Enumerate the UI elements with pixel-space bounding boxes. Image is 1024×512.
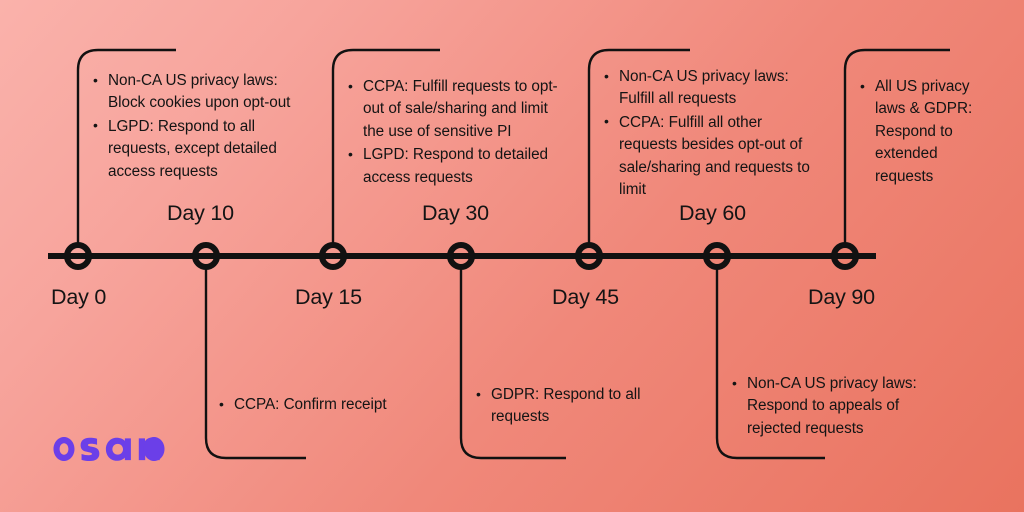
osano-logo-wordmark [54, 437, 165, 461]
callout-item: Non-CA US privacy laws: Fulfill all requ… [602, 66, 814, 111]
callout-day-60-list: Non-CA US privacy laws: Respond to appea… [730, 373, 946, 440]
day-label-day-30: Day 30 [422, 203, 489, 225]
day-label-day-90: Day 90 [808, 287, 875, 309]
callout-day-10-list: CCPA: Confirm receipt [217, 394, 437, 416]
callout-day-10: CCPA: Confirm receipt [217, 394, 437, 417]
timeline-node-day-60[interactable] [706, 245, 728, 267]
callout-day-30: GDPR: Respond to all requests [474, 384, 666, 430]
callout-day-90: All US privacy laws & GDPR: Respond to e… [858, 76, 994, 189]
timeline-node-day-90[interactable] [834, 245, 856, 267]
connector-day-10 [206, 264, 306, 458]
timeline-node-day-15[interactable] [322, 245, 344, 267]
callout-item: Non-CA US privacy laws: Block cookies up… [91, 70, 313, 115]
callout-day-0-list: Non-CA US privacy laws: Block cookies up… [91, 70, 313, 183]
callout-item: LGPD: Respond to detailed access request… [346, 144, 568, 189]
callout-item: LGPD: Respond to all requests, except de… [91, 116, 313, 183]
callout-day-60: Non-CA US privacy laws: Respond to appea… [730, 373, 946, 441]
timeline-node-day-45[interactable] [578, 245, 600, 267]
callout-day-15-list: CCPA: Fulfill requests to opt-out of sal… [346, 76, 568, 189]
callout-day-90-list: All US privacy laws & GDPR: Respond to e… [858, 76, 994, 188]
day-label-day-0: Day 0 [51, 287, 106, 309]
callout-day-0: Non-CA US privacy laws: Block cookies up… [91, 70, 313, 184]
callout-item: GDPR: Respond to all requests [474, 384, 666, 429]
callout-day-45: Non-CA US privacy laws: Fulfill all requ… [602, 66, 814, 202]
day-label-day-15: Day 15 [295, 287, 362, 309]
callout-item: CCPA: Confirm receipt [217, 394, 437, 416]
callout-item: All US privacy laws & GDPR: Respond to e… [858, 76, 994, 188]
day-label-day-45: Day 45 [552, 287, 619, 309]
osano-logo[interactable] [50, 432, 168, 466]
callout-item: CCPA: Fulfill all other requests besides… [602, 112, 814, 202]
day-label-day-60: Day 60 [679, 203, 746, 225]
timeline-node-day-0[interactable] [67, 245, 89, 267]
timeline-infographic: Day 0 Day 10 Day 15 Day 30 Day 45 Day 60… [0, 0, 1024, 512]
callout-item: Non-CA US privacy laws: Respond to appea… [730, 373, 946, 440]
callout-item: CCPA: Fulfill requests to opt-out of sal… [346, 76, 568, 143]
callout-day-30-list: GDPR: Respond to all requests [474, 384, 666, 429]
timeline-node-day-30[interactable] [450, 245, 472, 267]
day-label-day-10: Day 10 [167, 203, 234, 225]
callout-day-15: CCPA: Fulfill requests to opt-out of sal… [346, 76, 568, 190]
callout-day-45-list: Non-CA US privacy laws: Fulfill all requ… [602, 66, 814, 201]
timeline-node-day-10[interactable] [195, 245, 217, 267]
